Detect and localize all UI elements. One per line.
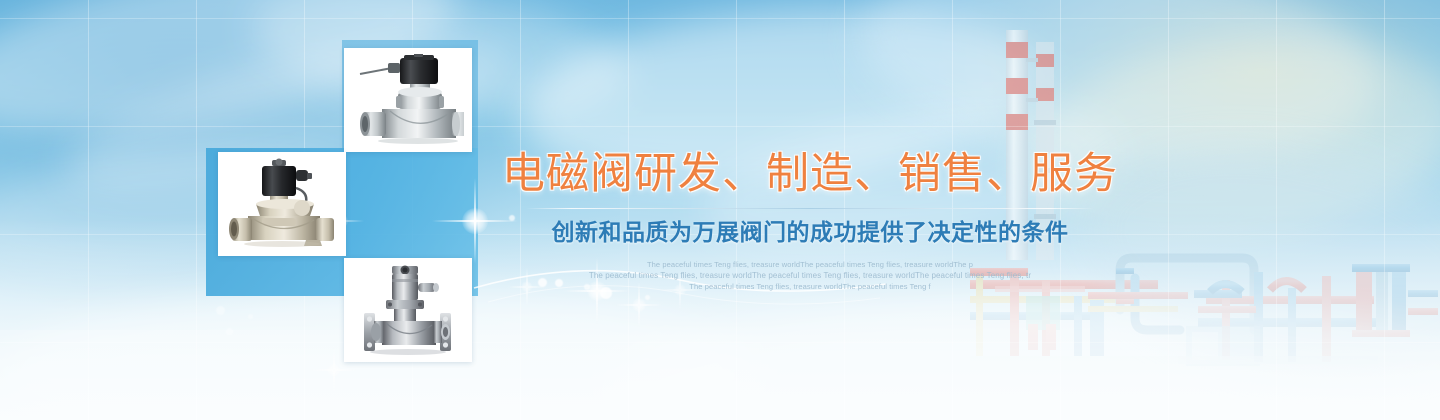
paragraph-line: The peaceful times Teng flies, treasure …: [500, 281, 1120, 292]
product-card-solenoid-valve-flanged[interactable]: [344, 258, 472, 362]
product-card-solenoid-valve-brass[interactable]: [218, 152, 346, 256]
product-card-solenoid-valve-stainless[interactable]: [344, 48, 472, 152]
product-image-solenoid-valve-brass: [218, 152, 346, 256]
product-image-solenoid-valve-flanged: [344, 258, 472, 362]
banner-paragraph: The peaceful times Teng flies, treasure …: [500, 259, 1120, 292]
banner-headline: 电磁阀研发、制造、销售、服务: [500, 148, 1120, 200]
banner-copy: 电磁阀研发、制造、销售、服务 创新和品质为万展阀门的成功提供了决定性的条件 Th…: [500, 148, 1120, 292]
headline-divider: [526, 208, 1094, 209]
promotional-banner: 电磁阀研发、制造、销售、服务 创新和品质为万展阀门的成功提供了决定性的条件 Th…: [0, 0, 1440, 420]
paragraph-line: The peaceful times Teng flies, treasure …: [500, 259, 1120, 270]
product-image-solenoid-valve-stainless: [344, 48, 472, 152]
paragraph-line: The peaceful times Teng flies, treasure …: [500, 270, 1120, 281]
banner-subheadline: 创新和品质为万展阀门的成功提供了决定性的条件: [500, 218, 1120, 248]
